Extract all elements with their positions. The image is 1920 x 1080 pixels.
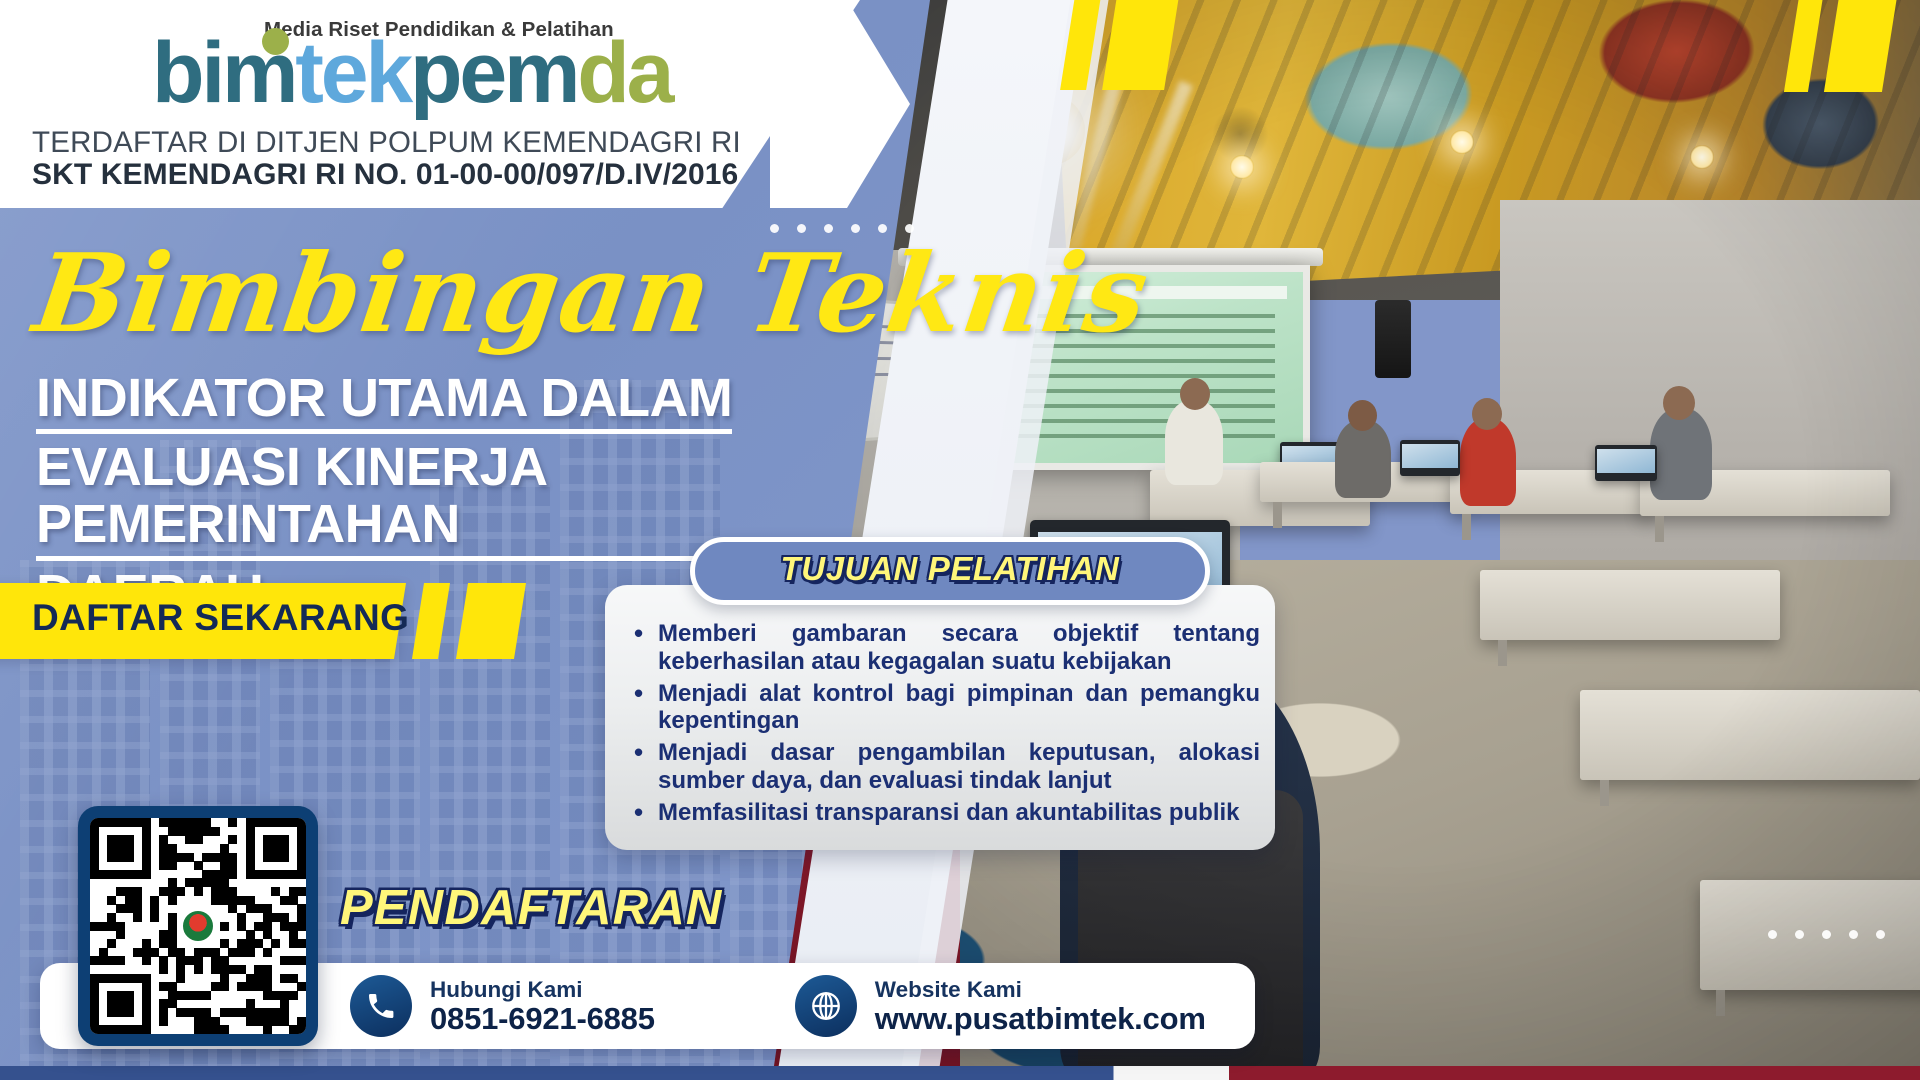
bottom-strip	[0, 1066, 1920, 1080]
register-now-label[interactable]: DAFTAR SEKARANG	[32, 597, 409, 639]
list-item: Memfasilitasi transparansi dan akuntabil…	[630, 799, 1260, 827]
wordmark-pem: pem	[410, 25, 577, 121]
registration-line-2: SKT KEMENDAGRI RI NO. 01-00-00/097/D.IV/…	[32, 158, 738, 192]
bimtek-pemda-logo: Media Riset Pendidikan & Pelatihan bimte…	[152, 18, 671, 113]
contact-website[interactable]: Website Kami www.pusatbimtek.com	[795, 975, 1206, 1037]
list-item: Menjadi alat kontrol bagi pimpinan dan p…	[630, 680, 1260, 736]
list-item: Memberi gambaran secara objektif tentang…	[630, 620, 1260, 676]
qr-center-logo	[177, 905, 219, 947]
website-text-group: Website Kami www.pusatbimtek.com	[875, 977, 1206, 1036]
list-item: Menjadi dasar pengambilan keputusan, alo…	[630, 739, 1260, 795]
globe-icon	[795, 975, 857, 1037]
registration-heading: PENDAFTARAN	[340, 880, 723, 936]
brand-wordmark: bimtekpemda	[152, 34, 671, 113]
contact-phone[interactable]: Hubungi Kami 0851-6921-6885	[350, 975, 655, 1037]
wordmark-da: da	[577, 25, 671, 121]
poster-root: LINKEU PEMDA Media Riset Pendidikan & Pe…	[0, 0, 1920, 1080]
phone-text-group: Hubungi Kami 0851-6921-6885	[430, 977, 655, 1036]
dot-grid-top	[770, 224, 914, 233]
phone-value[interactable]: 0851-6921-6885	[430, 1002, 655, 1035]
website-label: Website Kami	[875, 977, 1206, 1002]
script-title: Bimbingan Teknis	[28, 240, 1154, 348]
yellow-slash-large	[456, 583, 526, 659]
objectives-heading: TUJUAN PELATIHAN	[690, 550, 1210, 588]
registration-line-1: TERDAFTAR DI DITJEN POLPUM KEMENDAGRI RI	[32, 126, 741, 160]
dot-grid-bottom	[1768, 930, 1885, 939]
website-value[interactable]: www.pusatbimtek.com	[875, 1002, 1206, 1035]
objectives-list: Memberi gambaran secara objektif tentang…	[630, 620, 1260, 831]
qr-center-logo-mark	[183, 911, 213, 941]
logo-dot-icon	[262, 28, 289, 55]
title-line-1: INDIKATOR UTAMA DALAM	[36, 370, 732, 434]
phone-label: Hubungi Kami	[430, 977, 655, 1002]
wordmark-tek: tek	[295, 25, 410, 121]
phone-icon	[350, 975, 412, 1037]
qr-code-pattern	[90, 818, 306, 1034]
qr-code[interactable]	[78, 806, 318, 1046]
